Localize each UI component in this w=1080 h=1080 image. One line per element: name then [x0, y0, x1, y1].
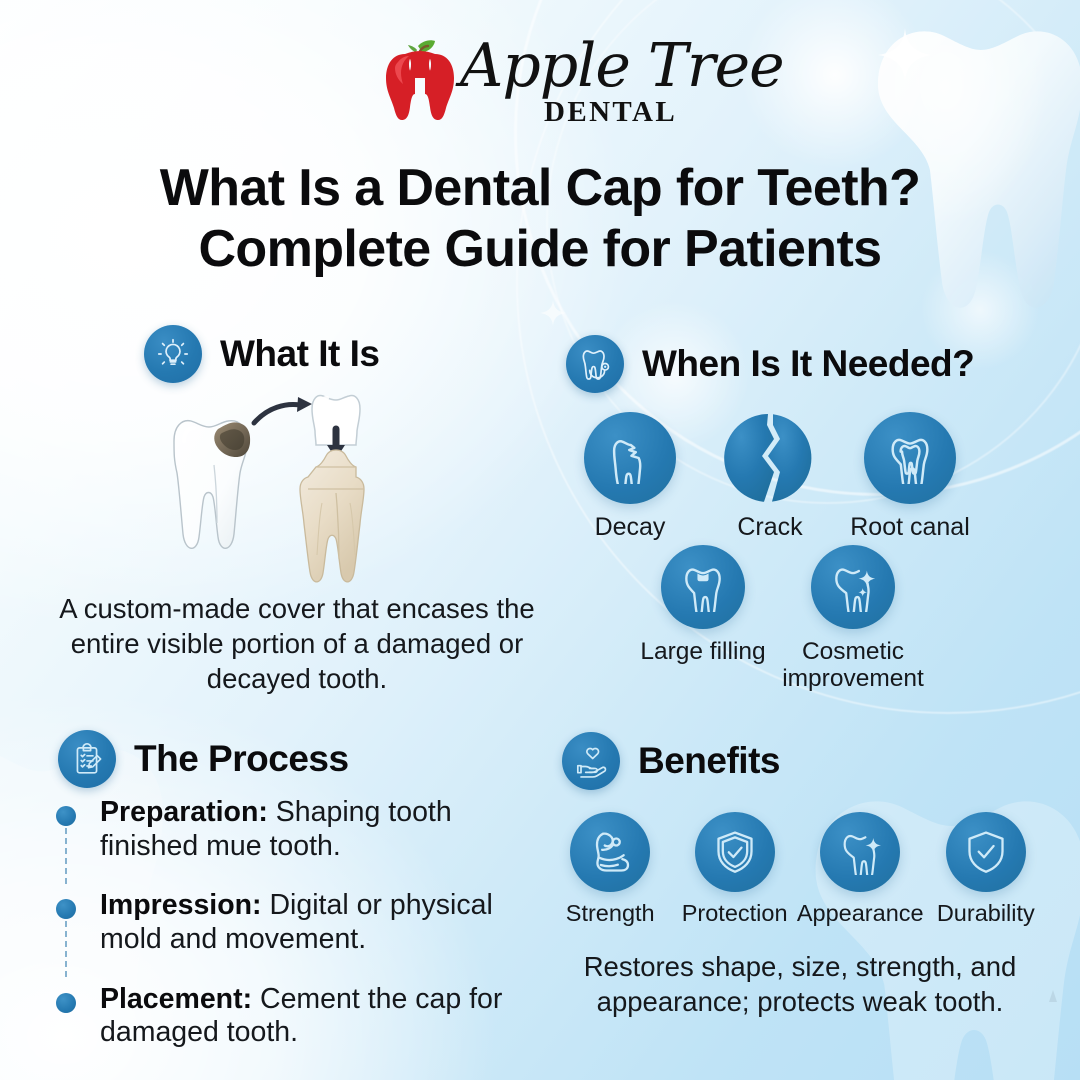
when-needed-label-root-canal: Root canal — [850, 513, 970, 541]
when-needed-item-cosmetic[interactable]: Cosmetic improvement — [778, 545, 928, 693]
process-step-label-1: Preparation: — [100, 796, 268, 828]
sparkle-icon-small — [540, 300, 566, 326]
benefit-label-appearance: Appearance — [797, 900, 924, 926]
sparkle-icon — [878, 28, 932, 82]
section-title-process: The Process — [134, 738, 349, 780]
benefit-label-protection: Protection — [682, 900, 788, 926]
what-it-is-caption: A custom-made cover that encases the ent… — [44, 592, 550, 697]
brand-sub-name: DENTAL — [544, 96, 677, 129]
damaged-tooth-to-crown-illustration — [150, 385, 440, 590]
benefit-label-strength: Strength — [566, 900, 655, 926]
process-steps-list: Preparation: Shaping tooth finished mue … — [54, 796, 554, 1050]
brand-script-name: Apple Tree — [460, 36, 784, 96]
benefit-item-durability[interactable]: Durability — [924, 812, 1048, 926]
shield-check-icon — [946, 812, 1026, 892]
step-connector-line — [65, 828, 67, 884]
benefits-row: Strength Protection Appearance — [548, 812, 1048, 926]
benefit-item-strength[interactable]: Strength — [548, 812, 672, 926]
sparkle-tooth-icon — [820, 812, 900, 892]
process-step-impression[interactable]: Impression: Digital or physical mold and… — [54, 889, 554, 956]
benefit-item-appearance[interactable]: Appearance — [797, 812, 924, 926]
flexed-bicep-icon — [570, 812, 650, 892]
step-bullet-icon — [56, 899, 76, 919]
section-header-benefits: Benefits — [562, 732, 780, 790]
when-needed-label-large-filling: Large filling — [640, 638, 765, 665]
process-step-placement[interactable]: Placement: Cement the cap for damaged to… — [54, 983, 554, 1050]
root-canal-tooth-icon — [864, 412, 956, 504]
title-line-1: What Is a Dental Cap for Teeth? — [160, 159, 921, 217]
when-needed-row-2: Large filling Cosmetic improvement — [628, 545, 928, 693]
section-title-benefits: Benefits — [638, 740, 780, 782]
benefits-caption: Restores shape, size, strength, and appe… — [548, 950, 1052, 1019]
step-bullet-icon — [56, 993, 76, 1013]
brand-logo[interactable]: Apple Tree DENTAL — [384, 32, 704, 144]
cracked-circle-icon — [724, 412, 816, 504]
process-step-label-2: Impression: — [100, 889, 262, 921]
lightbulb-icon — [144, 325, 202, 383]
step-connector-line — [65, 921, 67, 977]
when-needed-label-cosmetic: Cosmetic improvement — [778, 638, 928, 693]
section-header-process: The Process — [58, 730, 349, 788]
section-header-when-needed: When Is It Needed? — [566, 335, 974, 393]
sparkle-tooth-icon — [811, 545, 895, 629]
when-needed-item-root-canal[interactable]: Root canal — [840, 412, 980, 541]
section-title-when-needed: When Is It Needed? — [642, 343, 974, 385]
benefit-label-durability: Durability — [937, 900, 1035, 926]
section-title-what-it-is: What It Is — [220, 333, 379, 375]
chipped-tooth-icon — [584, 412, 676, 504]
hand-heart-icon — [562, 732, 620, 790]
process-step-label-3: Placement: — [100, 983, 252, 1015]
when-needed-item-large-filling[interactable]: Large filling — [628, 545, 778, 693]
benefit-item-protection[interactable]: Protection — [672, 812, 796, 926]
when-needed-item-decay[interactable]: Decay — [560, 412, 700, 541]
when-needed-item-crack[interactable]: Crack — [700, 412, 840, 541]
when-needed-row-1: Decay Crack — [560, 412, 980, 541]
watermark-mark — [1048, 990, 1058, 1002]
apple-tooth-logo-icon — [384, 40, 456, 124]
section-header-what-it-is: What It Is — [144, 325, 379, 383]
shield-check-icon — [695, 812, 775, 892]
filled-tooth-icon — [661, 545, 745, 629]
infographic-canvas: Apple Tree DENTAL What Is a Dental Cap f… — [0, 0, 1080, 1080]
process-step-preparation[interactable]: Preparation: Shaping tooth finished mue … — [54, 796, 554, 863]
tooth-stethoscope-icon — [566, 335, 624, 393]
step-bullet-icon — [56, 806, 76, 826]
when-needed-label-decay: Decay — [595, 513, 666, 541]
clipboard-checklist-icon — [58, 730, 116, 788]
page-title: What Is a Dental Cap for Teeth? Complete… — [0, 158, 1080, 280]
title-line-2: Complete Guide for Patients — [0, 219, 1080, 280]
brand-wordmark: Apple Tree DENTAL — [458, 30, 702, 142]
when-needed-label-crack: Crack — [737, 513, 802, 541]
